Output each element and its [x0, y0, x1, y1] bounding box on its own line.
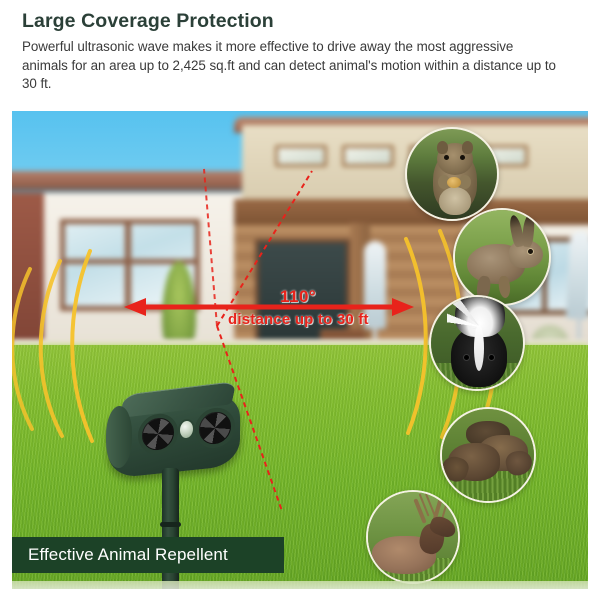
animal-circle-rabbit	[453, 208, 551, 306]
skunk-photo	[431, 297, 523, 389]
rabbit-photo	[455, 210, 549, 304]
skunk-eye	[489, 355, 494, 360]
animal-circle-wild-boars	[440, 407, 536, 503]
rabbit-eye	[527, 248, 534, 255]
page-title: Large Coverage Protection	[22, 10, 578, 32]
intro-text-block: Large Coverage Protection Powerful ultra…	[22, 10, 578, 94]
elk-antler	[413, 498, 426, 524]
squirrel-ear	[462, 141, 473, 154]
squirrel-eye	[444, 155, 449, 160]
squirrel-ear	[437, 141, 448, 154]
skunk-tail-fur	[447, 295, 513, 329]
skunk-stripe	[474, 325, 484, 371]
animal-circle-elk	[366, 490, 460, 584]
coverage-angle-label: 110°	[280, 287, 316, 307]
elk-photo	[368, 492, 458, 582]
image-bottom-edge	[12, 581, 588, 589]
squirrel-eye	[460, 155, 465, 160]
animal-circle-skunk	[429, 295, 525, 391]
wild-boars-photo	[442, 409, 534, 501]
skunk-eye	[464, 355, 469, 360]
product-tagline-banner: Effective Animal Repellent	[12, 537, 284, 573]
squirrel-nut	[447, 177, 461, 188]
product-scene-image: 110° distance up to 30 ft	[12, 111, 588, 589]
product-tagline-text: Effective Animal Repellent	[12, 545, 228, 565]
coverage-distance-label: distance up to 30 ft	[228, 311, 369, 328]
animal-circle-squirrel	[405, 127, 499, 221]
description-paragraph: Powerful ultrasonic wave makes it more e…	[22, 38, 562, 93]
squirrel-photo	[407, 129, 497, 219]
